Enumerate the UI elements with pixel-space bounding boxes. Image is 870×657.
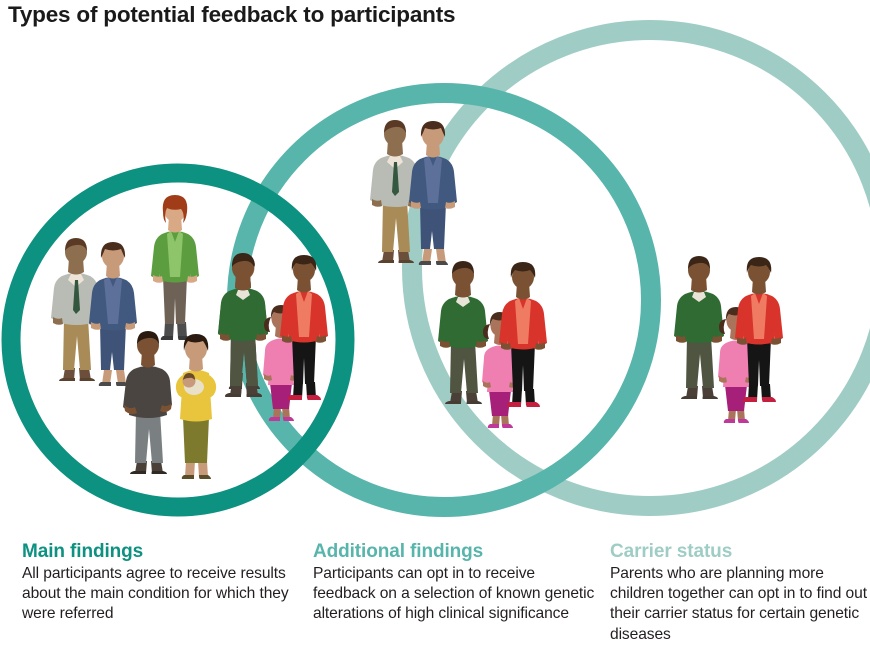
caption-heading-additional: Additional findings — [313, 541, 601, 563]
caption-carrier-status: Carrier status Parents who are planning … — [610, 541, 870, 645]
caption-body-carrier: Parents who are planning more children t… — [610, 564, 870, 644]
caption-additional-findings: Additional findings Participants can opt… — [313, 541, 601, 625]
caption-body-main: All participants agree to receive result… — [22, 564, 304, 624]
caption-heading-carrier: Carrier status — [610, 541, 870, 563]
carrier-status-family — [674, 256, 783, 423]
caption-main-findings: Main findings All participants agree to … — [22, 541, 304, 625]
shared-additional-carrier-family — [438, 261, 547, 428]
caption-body-additional: Participants can opt in to receive feedb… — [313, 564, 601, 624]
infographic-canvas: Types of potential feedback to participa… — [0, 0, 870, 657]
caption-heading-main: Main findings — [22, 541, 304, 563]
